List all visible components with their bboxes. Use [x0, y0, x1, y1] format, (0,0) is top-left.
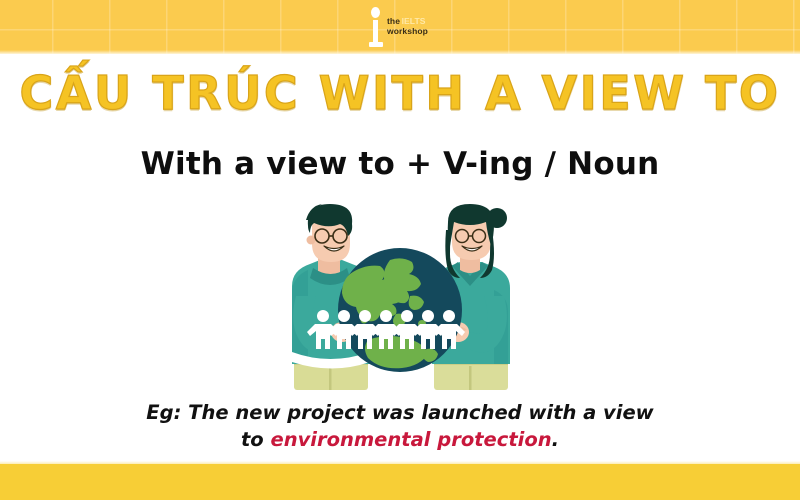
brand-logo: theIELTS workshop — [368, 6, 448, 50]
example-period: . — [552, 428, 559, 451]
example-highlight: environmental protection — [270, 428, 551, 451]
logo-text-workshop: workshop — [387, 27, 428, 37]
logo-i-base — [369, 42, 383, 47]
example-sentence: Eg: The new project was launched with a … — [100, 400, 700, 454]
poster-canvas: theIELTS workshop CẤU TRÚC WITH A VIEW T… — [0, 0, 800, 500]
logo-i-mark — [368, 6, 384, 48]
example-line-two-lead: to — [241, 428, 271, 451]
page-title: CẤU TRÚC WITH A VIEW TO — [0, 66, 800, 120]
grammar-formula: With a view to + V-ing / Noun — [0, 146, 800, 182]
logo-i-stem — [373, 20, 378, 44]
logo-text-the: the — [387, 16, 400, 26]
logo-wordmark: theIELTS workshop — [387, 6, 428, 36]
logo-i-dot — [371, 7, 380, 18]
logo-text-ielts: IELTS — [402, 16, 426, 26]
footer-bar — [0, 464, 800, 500]
header-bar: theIELTS workshop — [0, 0, 800, 54]
example-line-one: The new project was launched with a view — [188, 401, 654, 424]
example-prefix: Eg: — [146, 401, 188, 424]
illustration-globe-people — [272, 200, 528, 390]
